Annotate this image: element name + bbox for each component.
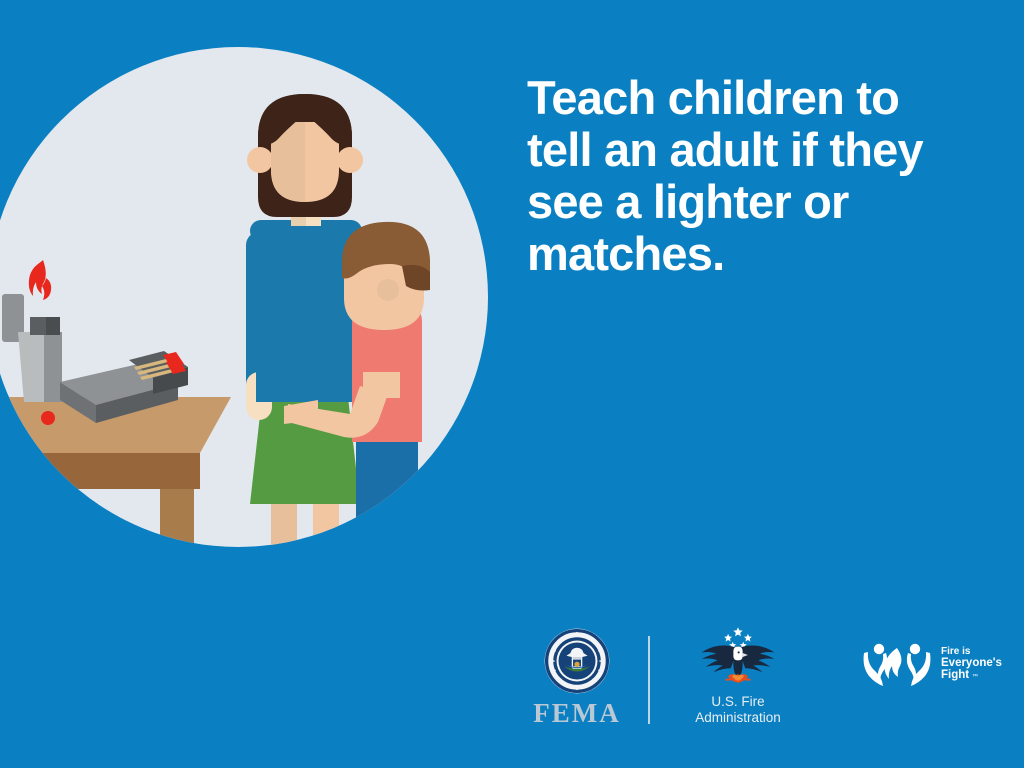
usfa-logo: U.S. Fire Administration xyxy=(673,626,803,726)
fief-line-1: Fire is xyxy=(941,646,971,657)
usfa-eagle-icon xyxy=(695,626,781,692)
illustration-scene xyxy=(0,42,488,552)
fief-line-3: Fight xyxy=(941,669,969,681)
adult-woman-figure xyxy=(246,94,366,552)
fire-is-everyones-fight-logo: Fire is Everyone's Fight ™ xyxy=(862,640,1007,688)
headline: Teach children to tell an adult if they … xyxy=(527,72,997,280)
fief-trademark: ™ xyxy=(972,673,978,680)
footer-logo-lockup: FEMA xyxy=(505,628,1005,738)
logo-divider xyxy=(648,636,650,724)
usfa-wordmark-line-1: U.S. Fire xyxy=(711,694,764,709)
headline-line-3: see a lighter or xyxy=(527,176,997,228)
headline-line-4: matches. xyxy=(527,228,997,280)
fief-line-2: Everyone's xyxy=(941,657,1002,669)
usfa-wordmark-line-2: Administration xyxy=(695,710,781,725)
fema-logo: FEMA xyxy=(517,628,637,728)
dhs-seal-icon xyxy=(544,628,610,694)
usfa-wordmark: U.S. Fire Administration xyxy=(673,694,803,726)
headline-line-1: Teach children to xyxy=(527,72,997,124)
fief-people-flame-icon: Fire is Everyone's Fight ™ xyxy=(862,640,1007,688)
fema-wordmark: FEMA xyxy=(517,698,637,728)
red-dot xyxy=(41,411,55,425)
poster-canvas: Teach children to tell an adult if they … xyxy=(0,0,1024,768)
headline-line-2: tell an adult if they xyxy=(527,124,997,176)
